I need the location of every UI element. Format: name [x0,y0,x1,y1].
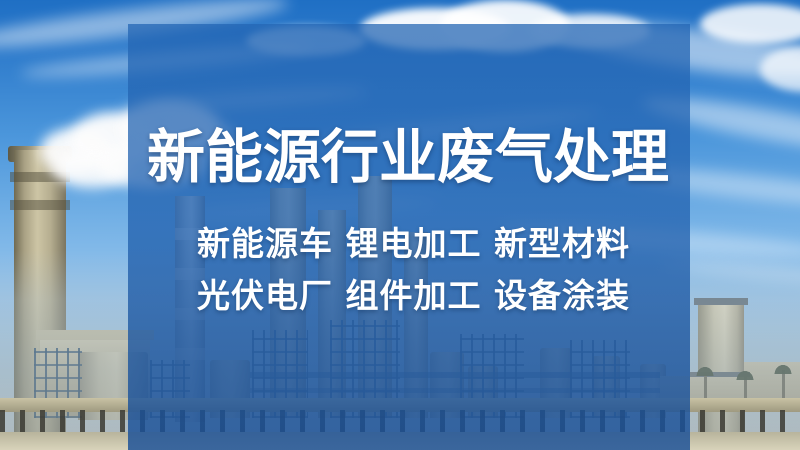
banner-subtitle-line-1: 新能源车 锂电加工 新型材料 [197,226,630,262]
smokestack-ring [10,200,70,210]
promotional-banner: 新能源行业废气处理 新能源车 锂电加工 新型材料 光伏电厂 组件加工 设备涂装 [0,0,800,450]
banner-headline: 新能源行业废气处理 [147,126,677,188]
banner-subtitle-line-2: 光伏电厂 组件加工 设备涂装 [197,278,630,314]
